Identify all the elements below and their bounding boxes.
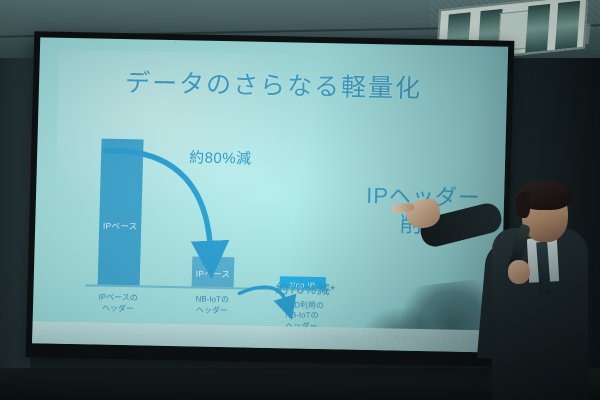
bar-label: IPベース xyxy=(195,268,230,281)
presenter-hair-side xyxy=(516,192,530,218)
bar-ip-base: IPベース xyxy=(98,139,144,286)
projector-screen-frame: データのさらなる軽量化 IPベース IPベース Non-IP IPベースの xyxy=(26,31,515,367)
light-tube xyxy=(555,1,580,50)
category-label-line: ヘッダー xyxy=(166,305,258,318)
category-label-nbiot: NB-IoTの ヘッダー xyxy=(166,294,259,317)
presenter-hand-holding-mic xyxy=(508,260,530,284)
projector-screen-surface: データのさらなる軽量化 IPベース IPベース Non-IP IPベースの xyxy=(32,37,508,352)
light-tube xyxy=(525,4,550,53)
bar-nbiot-ip-base: IPベース xyxy=(192,256,235,287)
slide-title: データのさらなる軽量化 xyxy=(125,63,446,105)
category-label-line: ヘッダー xyxy=(72,303,164,316)
category-label-ip-base: IPベースの ヘッダー xyxy=(72,292,165,315)
bar-label: IPベース xyxy=(103,220,138,233)
annotation-70-percent: 約70%減* xyxy=(275,278,336,298)
slide: データのさらなる軽量化 IPベース IPベース Non-IP IPベースの xyxy=(32,37,508,352)
presentation-room-photo: データのさらなる軽量化 IPベース IPベース Non-IP IPベースの xyxy=(0,0,600,400)
presenter xyxy=(478,176,600,400)
annotation-80-percent: 約80%減 xyxy=(189,146,252,168)
